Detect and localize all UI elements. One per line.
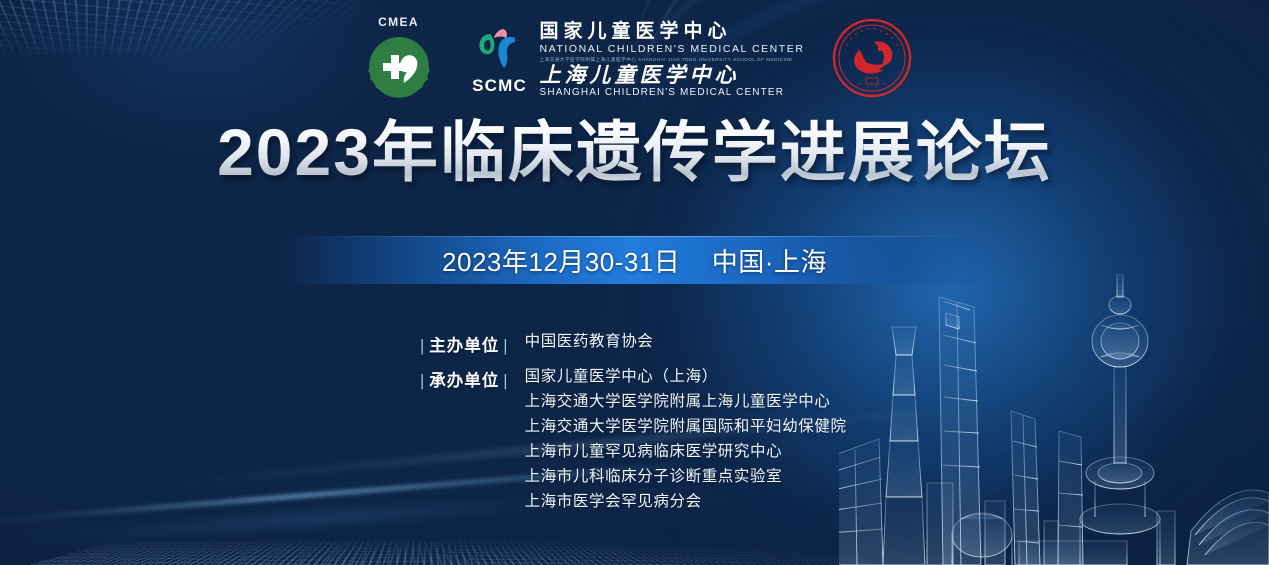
organizer-value: 上海交通大学医学院附属国际和平妇幼保健院	[525, 417, 847, 438]
cmea-abbr-label: CMEA	[378, 16, 419, 28]
red-seal-icon	[830, 16, 914, 100]
organizer-values-host: 中国医药教育协会	[525, 332, 654, 353]
scmc-cn-top: 国家儿童医学中心	[540, 22, 805, 42]
organizer-label-coorganizer: |承办单位|	[416, 367, 513, 391]
shanghai-skyline-illustration	[839, 235, 1269, 565]
label-bar-left: |	[416, 372, 429, 391]
organizer-value: 国家儿童医学中心（上海）	[525, 367, 847, 388]
scmc-en-bottom: SHANGHAI CHILDREN'S MEDICAL CENTER	[540, 87, 805, 99]
logo-red-seal	[830, 16, 914, 100]
organizer-value: 上海市医学会罕见病分会	[525, 492, 847, 513]
organizer-label-host: |主办单位|	[416, 332, 513, 356]
organizer-values-coorganizer: 国家儿童医学中心（上海） 上海交通大学医学院附属上海儿童医学中心 上海交通大学医…	[525, 367, 847, 513]
organizer-label-host-text: 主办单位	[429, 337, 499, 355]
label-bar-right: |	[499, 372, 512, 391]
date-location-band: 2023年12月30-31日 中国·上海	[0, 236, 1269, 284]
scmc-emblem-icon	[473, 21, 527, 75]
organizer-value: 上海市儿科临床分子诊断重点实验室	[525, 467, 847, 488]
scmc-en-top: NATIONAL CHILDREN'S MEDICAL CENTER	[540, 43, 805, 56]
date-location-text: 2023年12月30-31日 中国·上海	[442, 242, 827, 279]
organizer-row-host: |主办单位| 中国医药教育协会	[416, 332, 847, 356]
logo-scmc: SCMC 国家儿童医学中心 NATIONAL CHILDREN'S MEDICA…	[469, 17, 805, 98]
scmc-en-tiny: 上海交通大学医学院附属上海儿童医学中心 SHANGHAI JIAO TONG U…	[540, 57, 805, 63]
organizer-block: |主办单位| 中国医药教育协会 |承办单位| 国家儿童医学中心（上海） 上海交通…	[416, 332, 847, 513]
page-title: 2023年临床遗传学进展论坛	[0, 116, 1269, 190]
event-date: 2023年12月30-31日	[442, 247, 680, 277]
scmc-abbr-label: SCMC	[472, 77, 527, 94]
dotted-mesh-bottom-2	[0, 542, 838, 565]
organizer-value: 中国医药教育协会	[525, 332, 654, 353]
scmc-cn-bottom: 上海儿童医学中心	[540, 64, 805, 86]
logo-cmea: CMEA	[355, 16, 443, 101]
cmea-emblem-icon	[361, 29, 437, 101]
organizer-label-coorganizer-text: 承办单位	[429, 372, 499, 390]
label-bar-right: |	[499, 337, 512, 356]
scmc-name-block: 国家儿童医学中心 NATIONAL CHILDREN'S MEDICAL CEN…	[540, 17, 805, 98]
scmc-mark: SCMC	[469, 17, 531, 94]
organizer-value: 上海市儿童罕见病临床医学研究中心	[525, 442, 847, 463]
conference-banner: CMEA	[0, 0, 1269, 565]
organizer-value: 上海交通大学医学院附属上海儿童医学中心	[525, 392, 847, 413]
organizer-row-coorganizer: |承办单位| 国家儿童医学中心（上海） 上海交通大学医学院附属上海儿童医学中心 …	[416, 367, 847, 513]
event-location: 中国·上海	[712, 247, 827, 277]
label-bar-left: |	[416, 337, 429, 356]
logo-row: CMEA	[0, 12, 1269, 104]
